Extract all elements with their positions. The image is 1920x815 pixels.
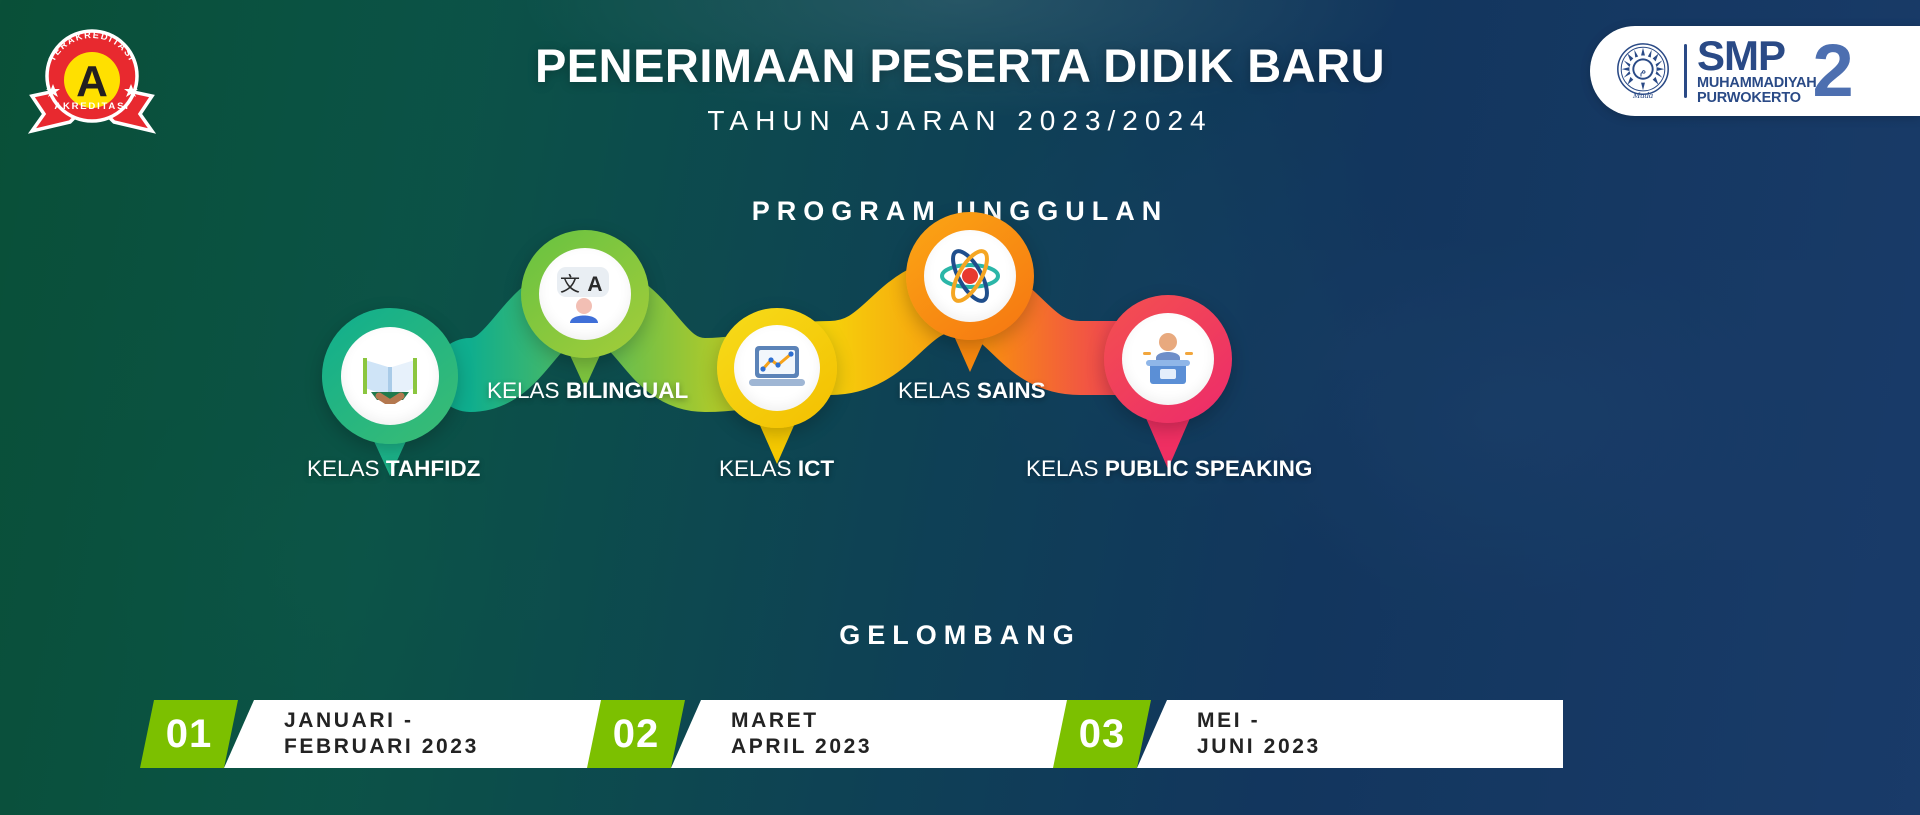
svg-text:文: 文 — [560, 272, 580, 296]
pin-inner — [734, 325, 820, 411]
quran-book-icon — [359, 348, 421, 404]
program-prefix: KELAS — [307, 456, 380, 481]
gelombang-number: 01 — [140, 700, 238, 768]
program-prefix: KELAS — [898, 378, 971, 403]
program-name: BILINGUAL — [566, 378, 689, 403]
program-label-ict: KELAS ICT — [719, 456, 834, 482]
gelombang-number: 02 — [587, 700, 685, 768]
gelombang-panel: MARET APRIL 2023 — [671, 700, 1097, 768]
pin-inner — [924, 230, 1016, 322]
gelombang-line1: MARET — [731, 708, 1097, 734]
program-prefix: KELAS — [487, 378, 560, 403]
gelombang-line2: APRIL 2023 — [731, 734, 1097, 760]
program-name: ICT — [798, 456, 834, 481]
gelombang-item-2[interactable]: 02 MARET APRIL 2023 — [587, 700, 1097, 768]
translate-person-icon: 文 A — [555, 265, 615, 323]
ppdb-banner: TERAKREDITASI A AKREDITASI — [0, 0, 1920, 815]
program-prefix: KELAS — [719, 456, 792, 481]
program-label-tahfidz: KELAS TAHFIDZ — [307, 456, 480, 482]
laptop-chart-icon — [748, 343, 806, 393]
gelombang-item-1[interactable]: 01 JANUARI - FEBRUARI 2023 — [140, 700, 650, 768]
page-title: PENERIMAAN PESERTA DIDIK BARU — [0, 38, 1920, 93]
program-name: SAINS — [977, 378, 1046, 403]
program-name: PUBLIC SPEAKING — [1105, 456, 1313, 481]
speaker-podium-icon — [1138, 330, 1198, 388]
program-pin-chain: KELAS TAHFIDZ 文 A KELAS BILINGUAL — [0, 240, 1920, 620]
gelombang-heading: GELOMBANG — [0, 620, 1920, 651]
program-label-bilingual: KELAS BILINGUAL — [487, 378, 688, 404]
gelombang-line1: MEI - — [1197, 708, 1563, 734]
pin-inner — [1122, 313, 1214, 405]
gelombang-number: 03 — [1053, 700, 1151, 768]
atom-icon — [939, 245, 1001, 307]
svg-text:A: A — [587, 273, 602, 296]
pin-inner — [341, 327, 439, 425]
program-label-sains: KELAS SAINS — [898, 378, 1046, 404]
program-name: TAHFIDZ — [386, 456, 481, 481]
pin-inner: 文 A — [539, 248, 631, 340]
program-label-public-speaking: KELAS PUBLIC SPEAKING — [1026, 456, 1312, 482]
logo-line2: PURWOKERTO — [1697, 91, 1817, 106]
gelombang-panel: MEI - JUNI 2023 — [1137, 700, 1563, 768]
program-prefix: KELAS — [1026, 456, 1099, 481]
gelombang-item-3[interactable]: 03 MEI - JUNI 2023 — [1053, 700, 1563, 768]
gelombang-line2: JUNI 2023 — [1197, 734, 1563, 760]
page-subtitle: TAHUN AJARAN 2023/2024 — [0, 105, 1920, 137]
